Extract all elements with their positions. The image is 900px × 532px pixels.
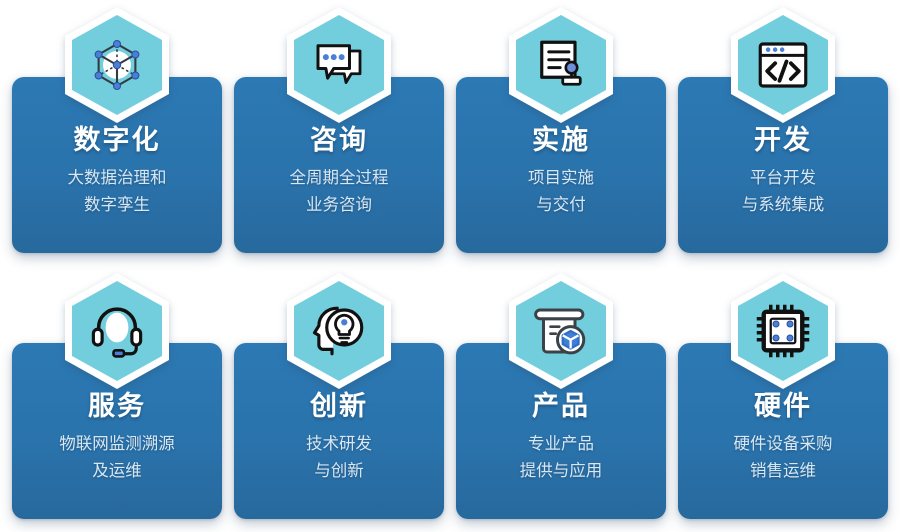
card-title: 产品 <box>532 391 590 421</box>
card-description: 全周期全过程 业务咨询 <box>284 165 395 218</box>
card-description: 专业产品 提供与应用 <box>514 431 609 484</box>
card-description: 物联网监测溯源 及运维 <box>53 431 181 484</box>
head-lightbulb-icon <box>287 273 391 389</box>
card-title: 创新 <box>310 391 368 421</box>
document-stamp-icon <box>509 7 613 123</box>
hex-badge <box>509 7 613 123</box>
card-description-line-1: 全周期全过程 <box>290 165 389 191</box>
card-hardware[interactable]: 硬件 硬件设备采购 销售运维 <box>678 343 888 519</box>
hex-badge <box>65 273 169 389</box>
card-description-line-2: 提供与应用 <box>520 458 603 484</box>
card-consulting[interactable]: 咨询 全周期全过程 业务咨询 <box>234 77 444 253</box>
card-title: 硬件 <box>754 391 812 421</box>
card-implementation[interactable]: 实施 项目实施 与交付 <box>456 77 666 253</box>
card-description-line-1: 专业产品 <box>520 431 603 457</box>
code-window-icon <box>731 7 835 123</box>
hex-badge <box>509 273 613 389</box>
cube-network-icon <box>65 7 169 123</box>
card-development[interactable]: 开发 平台开发 与系统集成 <box>678 77 888 253</box>
card-service[interactable]: 服务 物联网监测溯源 及运维 <box>12 343 222 519</box>
hex-badge <box>287 273 391 389</box>
card-title: 服务 <box>88 391 146 421</box>
speech-bubbles-icon <box>287 7 391 123</box>
card-title: 开发 <box>754 125 812 155</box>
card-title: 数字化 <box>74 125 161 155</box>
card-description-line-1: 硬件设备采购 <box>734 431 833 457</box>
card-description-line-2: 销售运维 <box>734 458 833 484</box>
card-innovation[interactable]: 创新 技术研发 与创新 <box>234 343 444 519</box>
card-description: 平台开发 与系统集成 <box>736 165 831 218</box>
headset-icon <box>65 273 169 389</box>
card-description-line-2: 与创新 <box>306 458 372 484</box>
card-description-line-1: 物联网监测溯源 <box>59 431 175 457</box>
card-digitalization[interactable]: 数字化 大数据治理和 数字孪生 <box>12 77 222 253</box>
card-description-line-1: 技术研发 <box>306 431 372 457</box>
card-description: 大数据治理和 数字孪生 <box>62 165 173 218</box>
card-description: 硬件设备采购 销售运维 <box>728 431 839 484</box>
card-description-line-2: 与交付 <box>528 192 594 218</box>
card-description: 技术研发 与创新 <box>300 431 378 484</box>
hex-badge <box>731 7 835 123</box>
card-description-line-1: 项目实施 <box>528 165 594 191</box>
card-description-line-1: 大数据治理和 <box>68 165 167 191</box>
card-product[interactable]: 产品 专业产品 提供与应用 <box>456 343 666 519</box>
card-description-line-2: 与系统集成 <box>742 192 825 218</box>
card-description-line-2: 及运维 <box>59 458 175 484</box>
hex-badge <box>287 7 391 123</box>
card-description-line-2: 数字孪生 <box>68 192 167 218</box>
card-row-bottom: 服务 物联网监测溯源 及运维 <box>8 343 892 519</box>
card-title: 实施 <box>532 125 590 155</box>
product-box-cube-icon <box>509 273 613 389</box>
hex-badge <box>731 273 835 389</box>
cpu-chip-icon <box>731 273 835 389</box>
card-title: 咨询 <box>310 125 368 155</box>
card-description-line-1: 平台开发 <box>742 165 825 191</box>
card-row-top: 数字化 大数据治理和 数字孪生 <box>8 77 892 253</box>
hex-badge <box>65 7 169 123</box>
service-capability-board: 数字化 大数据治理和 数字孪生 <box>0 0 900 532</box>
card-description-line-2: 业务咨询 <box>290 192 389 218</box>
card-description: 项目实施 与交付 <box>522 165 600 218</box>
